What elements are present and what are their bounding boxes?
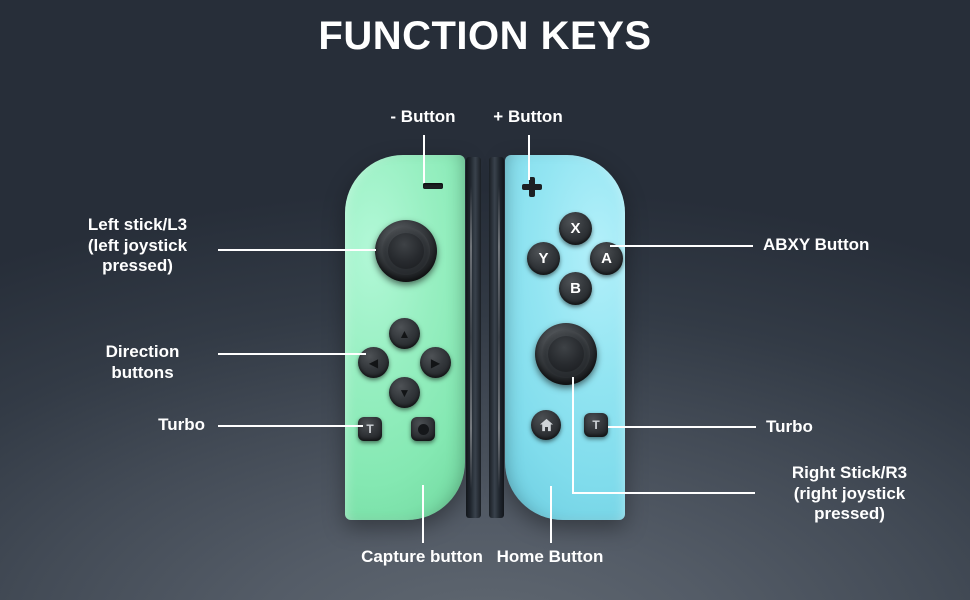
dpad-down-icon: ▼ (399, 387, 411, 399)
y-button-label: Y (538, 251, 548, 266)
minus-button[interactable] (423, 183, 443, 189)
label-right-turbo: Turbo (766, 417, 916, 438)
dpad-up-button[interactable]: ▲ (389, 318, 420, 349)
b-button-label: B (570, 281, 581, 296)
b-button[interactable]: B (559, 272, 592, 305)
dpad-right-icon: ▶ (431, 357, 440, 369)
page-title: FUNCTION KEYS (0, 14, 970, 59)
leader-direction-buttons (218, 353, 366, 355)
leader-right-turbo (608, 426, 756, 428)
label-right-stick: Right Stick/R3 (right joystick pressed) (757, 463, 942, 525)
leader-left-stick (218, 249, 376, 251)
plus-button[interactable] (522, 177, 542, 197)
capture-circle-icon (418, 424, 429, 435)
turbo-t-icon: T (366, 423, 373, 435)
dpad-left-button[interactable]: ◀ (358, 347, 389, 378)
dpad-up-icon: ▲ (399, 328, 411, 340)
label-direction-buttons: Direction buttons (70, 342, 215, 383)
y-button[interactable]: Y (527, 242, 560, 275)
turbo-t-icon: T (592, 419, 599, 431)
label-abxy-button: ABXY Button (763, 235, 963, 256)
leader-right-stick-horizontal (572, 492, 755, 494)
home-icon (539, 418, 554, 432)
left-stick[interactable] (375, 220, 437, 282)
leader-right-stick-vertical (572, 377, 574, 494)
left-joycon-rail (466, 157, 481, 518)
leader-abxy-button (610, 245, 753, 247)
left-turbo-button[interactable]: T (358, 417, 382, 441)
leader-plus-button (528, 135, 530, 180)
right-joycon-rail (489, 157, 504, 518)
x-button[interactable]: X (559, 212, 592, 245)
a-button-label: A (601, 251, 612, 266)
label-home-button: Home Button (450, 547, 650, 568)
dpad-down-button[interactable]: ▼ (389, 377, 420, 408)
x-button-label: X (570, 221, 580, 236)
right-joycon: X Y A B T (505, 155, 625, 520)
leader-minus-button (423, 135, 425, 183)
capture-button[interactable] (411, 417, 435, 441)
dpad-left-icon: ◀ (369, 357, 378, 369)
dpad-right-button[interactable]: ▶ (420, 347, 451, 378)
leader-left-turbo (218, 425, 363, 427)
right-stick[interactable] (535, 323, 597, 385)
right-turbo-button[interactable]: T (584, 413, 608, 437)
home-button[interactable] (531, 410, 561, 440)
leader-capture-button (422, 485, 424, 543)
label-left-turbo: Turbo (60, 415, 205, 436)
left-joycon: ▲ ◀ ▶ ▼ T (345, 155, 465, 520)
diagram-canvas: FUNCTION KEYS ▲ ◀ ▶ ▼ T X (0, 0, 970, 600)
label-plus-button: + Button (428, 107, 628, 128)
leader-home-button (550, 486, 552, 543)
label-left-stick: Left stick/L3 (left joystick pressed) (60, 215, 215, 277)
